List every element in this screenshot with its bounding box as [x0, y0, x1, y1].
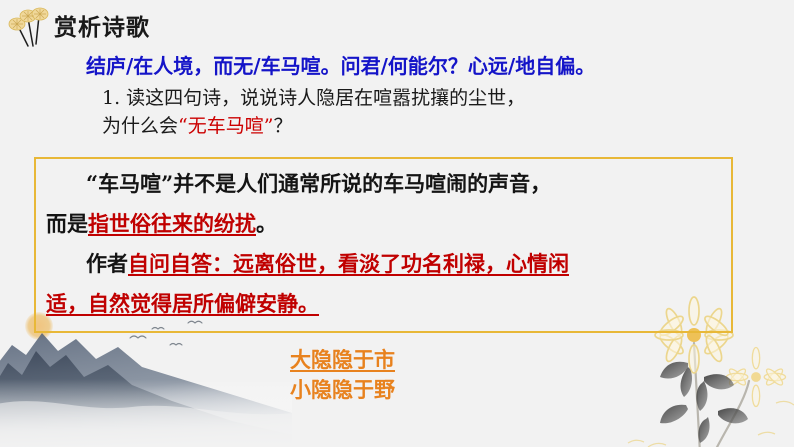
answer-row-3: 作者自问自答：远离俗世，看淡了功名利禄，心情闲: [46, 244, 725, 284]
motto-line-1: 大隐隐于市: [290, 345, 395, 375]
answer-row-4: 适，自然觉得居所偏僻安静。: [46, 284, 725, 324]
answer-row-2-red: 指世俗往来的纷扰: [88, 211, 256, 236]
answer-text: “车马喧”并不是人们通常所说的车马喧闹的声音， 而是指世俗往来的纷扰。 作者自问…: [46, 164, 725, 324]
question-highlight-quote: “无车马喧”: [178, 115, 273, 137]
answer-row-1: “车马喧”并不是人们通常所说的车马喧闹的声音，: [46, 164, 725, 204]
question-row-2: 为什么会“无车马喧”？: [102, 112, 525, 140]
slide-canvas: 赏析诗歌 结庐/在人境，而无/车马喧。问君/何能尔？心远/地自偏。 1. 读这四…: [0, 0, 794, 447]
motto-block: 大隐隐于市 小隐隐于野: [290, 345, 395, 405]
answer-row-3-red: 自问自答：远离俗世，看淡了功名利禄，心情闲: [128, 251, 569, 276]
question-row-1: 1. 读这四句诗，说说诗人隐居在喧嚣扰攘的尘世，: [102, 84, 525, 112]
chrysanthemum-sprig-icon: [4, 4, 56, 50]
answer-row-2-black: 而是: [46, 211, 88, 236]
question-block: 1. 读这四句诗，说说诗人隐居在喧嚣扰攘的尘世， 为什么会“无车马喧”？: [102, 84, 525, 140]
question-row-2-suffix: ？: [273, 115, 292, 137]
question-row-2-prefix: 为什么会: [102, 115, 178, 137]
poem-line: 结庐/在人境，而无/车马喧。问君/何能尔？心远/地自偏。: [86, 50, 595, 79]
answer-row-2-tail: 。: [256, 211, 277, 236]
answer-row-4-red: 适，自然觉得居所偏僻安静。: [46, 291, 319, 316]
answer-row-2: 而是指世俗往来的纷扰。: [46, 204, 725, 244]
answer-row-3-black: 作者: [86, 251, 128, 276]
answer-box: “车马喧”并不是人们通常所说的车马喧闹的声音， 而是指世俗往来的纷扰。 作者自问…: [34, 157, 733, 333]
page-title: 赏析诗歌: [54, 8, 150, 42]
motto-line-2: 小隐隐于野: [290, 375, 395, 405]
